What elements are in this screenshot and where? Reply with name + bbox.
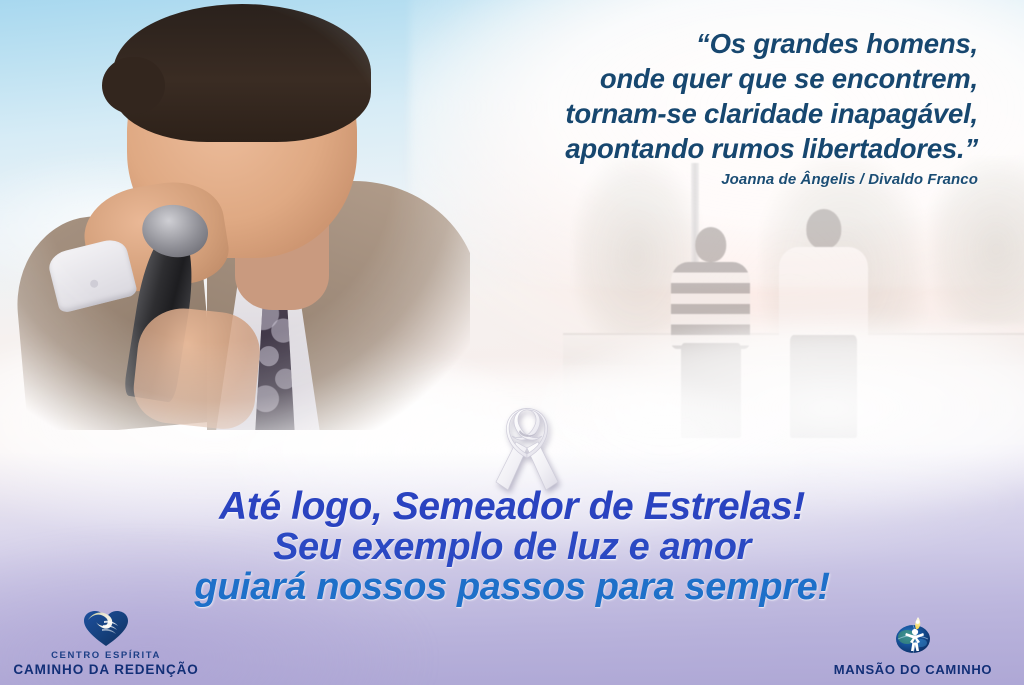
quote-line-3: tornam-se claridade inapagável, (378, 96, 978, 131)
hand-holding-microphone (131, 304, 265, 432)
quote-text: “Os grandes homens, onde quer que se enc… (378, 26, 978, 166)
globe-figure-torch-icon (808, 615, 1018, 655)
quote-line-1: “Os grandes homens, (378, 26, 978, 61)
headline-line-1: Até logo, Semeador de Estrelas! (0, 486, 1024, 527)
quote-attribution: Joanna de Ângelis / Divaldo Franco (378, 171, 978, 188)
headline-line-3: guiará nossos passos para sempre! (0, 567, 1024, 607)
quote-line-4: apontando rumos libertadores.” (378, 131, 978, 166)
logo-centro-espirita[interactable]: CENTRO ESPÍRITA CAMINHO DA REDENÇÃO (6, 607, 206, 677)
headline-line-2: Seu exemplo de luz e amor (0, 527, 1024, 567)
person-head (695, 227, 726, 262)
logo-caption-main: MANSÃO DO CAMINHO (808, 662, 1018, 677)
hair (113, 4, 372, 142)
person-head (806, 209, 841, 249)
quote-line-2: onde quer que se encontrem, (378, 61, 978, 96)
logo-caption-main: CAMINHO DA REDENÇÃO (6, 662, 206, 677)
logo-caption-top: CENTRO ESPÍRITA (6, 650, 206, 661)
logo-mansao-do-caminho[interactable]: MANSÃO DO CAMINHO (808, 615, 1018, 677)
headline-block: Até logo, Semeador de Estrelas! Seu exem… (0, 486, 1024, 607)
memorial-poster: “Os grandes homens, onde quer que se enc… (0, 0, 1024, 685)
mourning-ribbon-icon (492, 408, 562, 492)
heart-hands-icon (6, 607, 206, 647)
